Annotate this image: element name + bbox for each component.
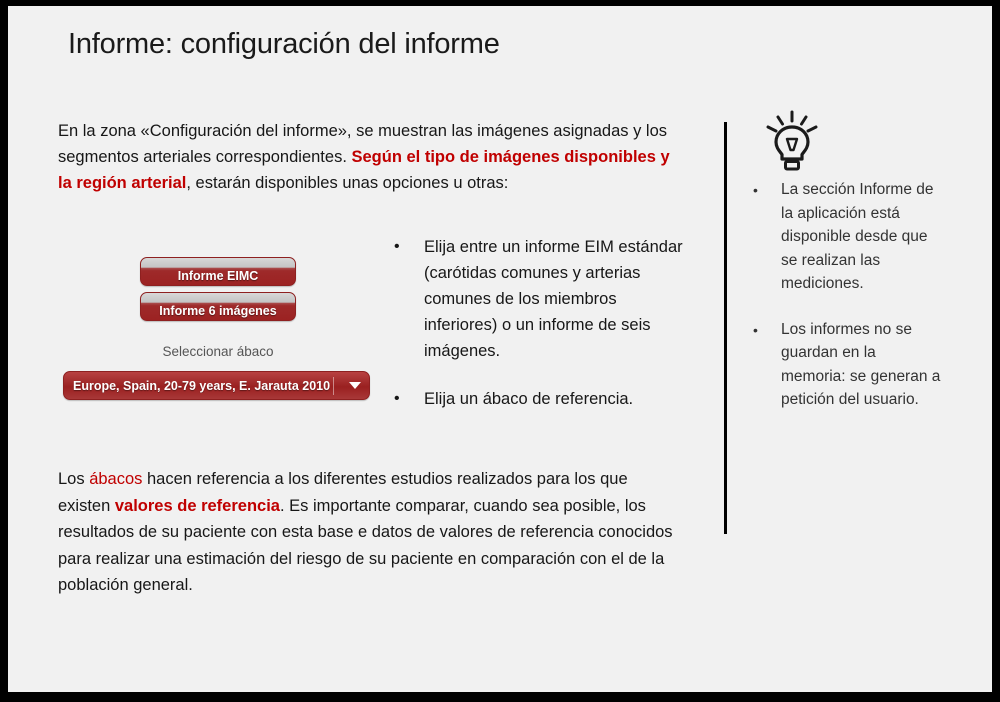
dropdown-separator — [333, 377, 334, 395]
bullet-dot-icon: • — [394, 386, 424, 412]
bottom-highlight-valores: valores de referencia — [115, 497, 280, 515]
bottom-paragraph: Los ábacos hacen referencia a los difere… — [58, 466, 683, 599]
slide-frame: Informe: configuración del informe En la… — [0, 0, 1000, 702]
informe-eimc-button[interactable]: Informe EIMC — [140, 257, 296, 286]
bullet-dot-icon: • — [753, 178, 781, 296]
bullet-dot-icon: • — [394, 234, 424, 364]
page-title: Informe: configuración del informe — [68, 28, 500, 61]
intro-paragraph: En la zona «Configuración del informe», … — [58, 118, 683, 196]
intro-text-part2: , estarán disponibles unas opciones u ot… — [186, 174, 508, 192]
list-item-label: Los informes no se guardan en la memoria… — [781, 318, 943, 412]
chevron-down-icon[interactable] — [344, 382, 366, 389]
list-item-label: La sección Informe de la aplicación está… — [781, 178, 943, 296]
abaco-select-dropdown[interactable]: Europe, Spain, 20-79 years, E. Jarauta 2… — [63, 371, 370, 400]
list-item-label: Elija un ábaco de referencia. — [424, 386, 633, 412]
vertical-divider — [724, 122, 727, 534]
list-item: • Elija un ábaco de referencia. — [394, 386, 684, 412]
seleccionar-abaco-label: Seleccionar ábaco — [140, 344, 296, 359]
bottom-highlight-abacos: ábacos — [89, 470, 142, 488]
list-item: • Elija entre un informe EIM estándar (c… — [394, 234, 684, 364]
side-bullet-list: • La sección Informe de la aplicación es… — [753, 178, 943, 434]
bullet-dot-icon: • — [753, 318, 781, 412]
slide-canvas: Informe: configuración del informe En la… — [8, 6, 992, 692]
app-screenshot-mock: Informe EIMC Informe 6 imágenes Seleccio… — [58, 249, 378, 404]
informe-6-imagenes-button[interactable]: Informe 6 imágenes — [140, 292, 296, 321]
list-item-label: Elija entre un informe EIM estándar (car… — [424, 234, 684, 364]
middle-bullet-list: • Elija entre un informe EIM estándar (c… — [394, 234, 684, 434]
abaco-selected-value: Europe, Spain, 20-79 years, E. Jarauta 2… — [64, 379, 333, 393]
list-item: • La sección Informe de la aplicación es… — [753, 178, 943, 296]
lightbulb-icon — [764, 110, 820, 172]
bottom-text-part1: Los — [58, 470, 89, 488]
list-item: • Los informes no se guardan en la memor… — [753, 318, 943, 412]
